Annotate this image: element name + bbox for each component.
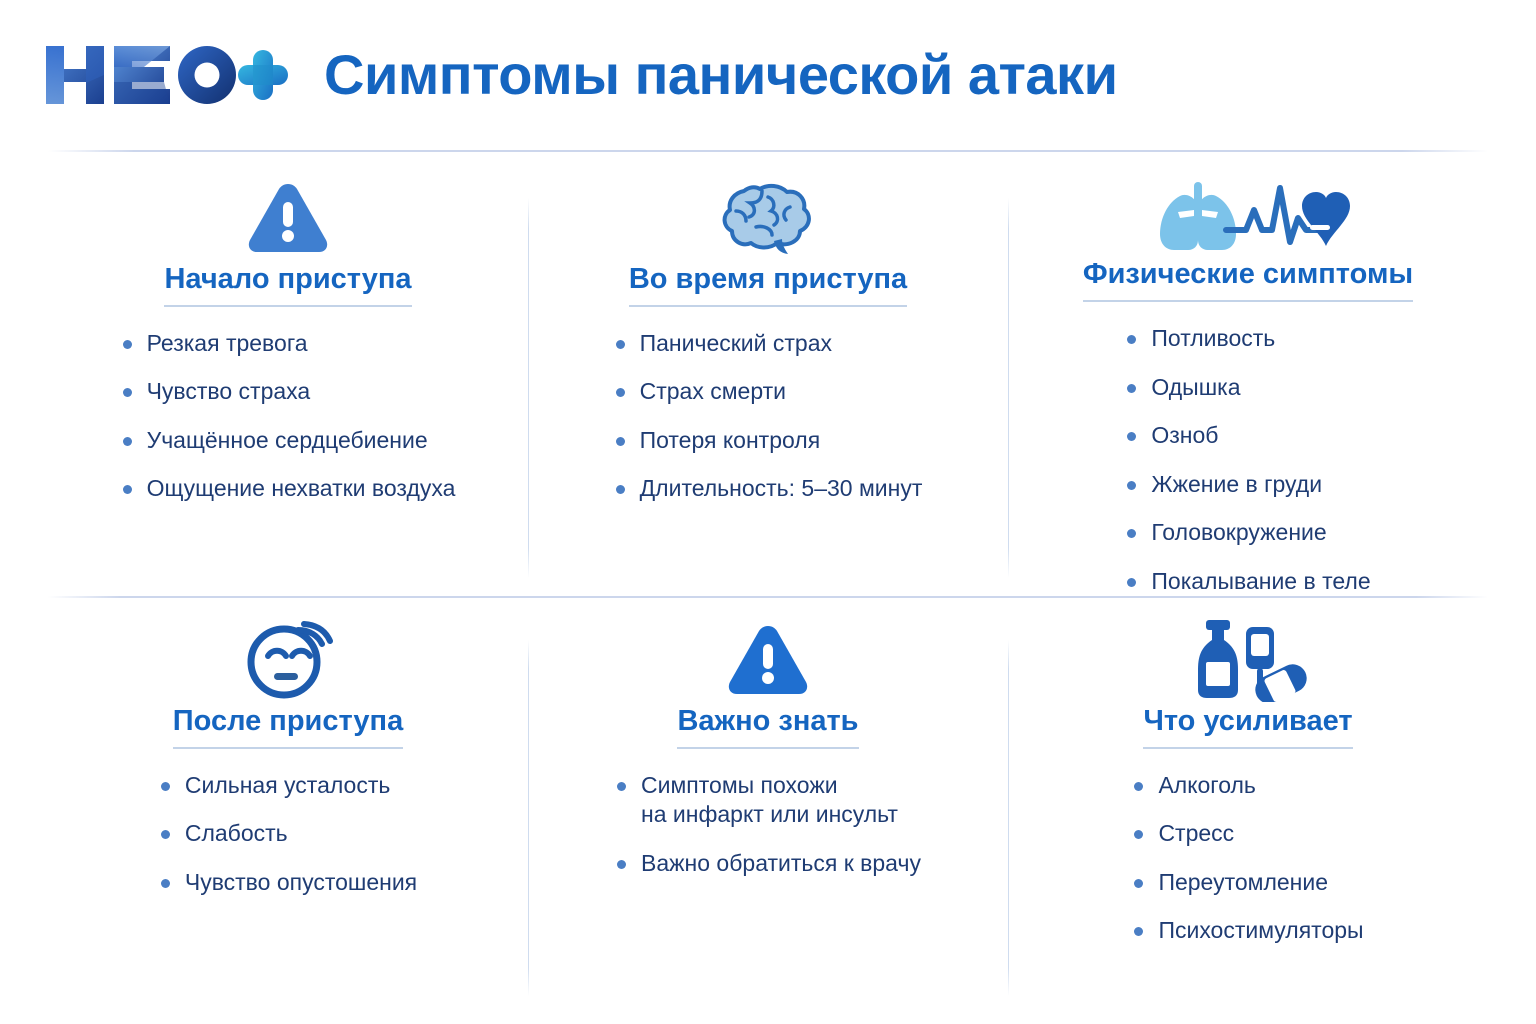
card-physical-symptoms: Физические симптомы Потливость Одышка Оз… <box>1008 172 1488 596</box>
card-aggravating-factors: Что усиливает Алкоголь Стресс Переутомле… <box>1008 614 1488 1014</box>
list-item: Стресс <box>1132 819 1363 848</box>
card-title: Начало приступа <box>164 264 411 307</box>
row-divider <box>48 596 1488 598</box>
list-item: Чувство страха <box>121 377 456 406</box>
card-title: Что усиливает <box>1143 706 1352 749</box>
list-item: Чувство опустошения <box>159 868 417 897</box>
lungs-heartbeat-heart-icon <box>1032 172 1464 259</box>
tired-face-icon <box>72 614 504 706</box>
list-item: Панический страх <box>614 329 923 358</box>
infographic-page: Симптомы панической атаки Начало приступ… <box>0 0 1536 1024</box>
page-header: Симптомы панической атаки <box>0 0 1536 150</box>
list-item: Одышка <box>1125 373 1370 402</box>
card-onset: Начало приступа Резкая тревога Чувство с… <box>48 172 528 596</box>
list-item: Покалывание в теле <box>1125 567 1370 596</box>
list-item: Длительность: 5–30 минут <box>614 474 923 503</box>
card-after-attack: После приступа Сильная усталость Слабост… <box>48 614 528 1014</box>
list-item: Жжение в груди <box>1125 470 1370 499</box>
list-item: Учащённое сердцебиение <box>121 426 456 455</box>
cards-row-top: Начало приступа Резкая тревога Чувство с… <box>48 172 1488 596</box>
list-item: Психостимуляторы <box>1132 916 1363 945</box>
card-important-to-know: Важно знать Симптомы похожи на инфаркт и… <box>528 614 1008 1014</box>
symptom-list: Алкоголь Стресс Переутомление Психостиму… <box>1132 771 1363 946</box>
list-item: Переутомление <box>1132 868 1363 897</box>
cards-row-bottom: После приступа Сильная усталость Слабост… <box>48 614 1488 1014</box>
list-item: Симптомы похожи на инфаркт или инсульт <box>615 771 921 830</box>
list-item: Страх смерти <box>614 377 923 406</box>
list-item: Ощущение нехватки воздуха <box>121 474 456 503</box>
symptom-list: Резкая тревога Чувство страха Учащённое … <box>121 329 456 504</box>
list-item: Головокружение <box>1125 518 1370 547</box>
brain-icon <box>552 172 984 264</box>
cards-grid: Начало приступа Резкая тревога Чувство с… <box>0 152 1536 1024</box>
card-title: Во время приступа <box>629 264 907 307</box>
page-title: Симптомы панической атаки <box>324 47 1118 103</box>
symptom-list: Панический страх Страх смерти Потеря кон… <box>614 329 923 504</box>
list-item: Сильная усталость <box>159 771 417 800</box>
card-title: Важно знать <box>677 706 858 749</box>
symptom-list: Потливость Одышка Озноб Жжение в груди Г… <box>1125 324 1370 596</box>
list-item: Потливость <box>1125 324 1370 353</box>
symptom-list: Симптомы похожи на инфаркт или инсульт В… <box>615 771 921 878</box>
list-item: Озноб <box>1125 421 1370 450</box>
list-item: Важно обратиться к врачу <box>615 849 921 878</box>
list-item: Алкоголь <box>1132 771 1363 800</box>
list-item: Резкая тревога <box>121 329 456 358</box>
card-title: После приступа <box>173 706 403 749</box>
neo-plus-logo <box>40 38 288 112</box>
list-item: Слабость <box>159 819 417 848</box>
list-item: Потеря контроля <box>614 426 923 455</box>
card-title: Физические симптомы <box>1083 259 1413 302</box>
warning-triangle-icon <box>72 172 504 264</box>
bottle-pills-icon <box>1032 614 1464 706</box>
card-during-attack: Во время приступа Панический страх Страх… <box>528 172 1008 596</box>
warning-triangle-icon <box>552 614 984 706</box>
symptom-list: Сильная усталость Слабость Чувство опуст… <box>159 771 417 897</box>
